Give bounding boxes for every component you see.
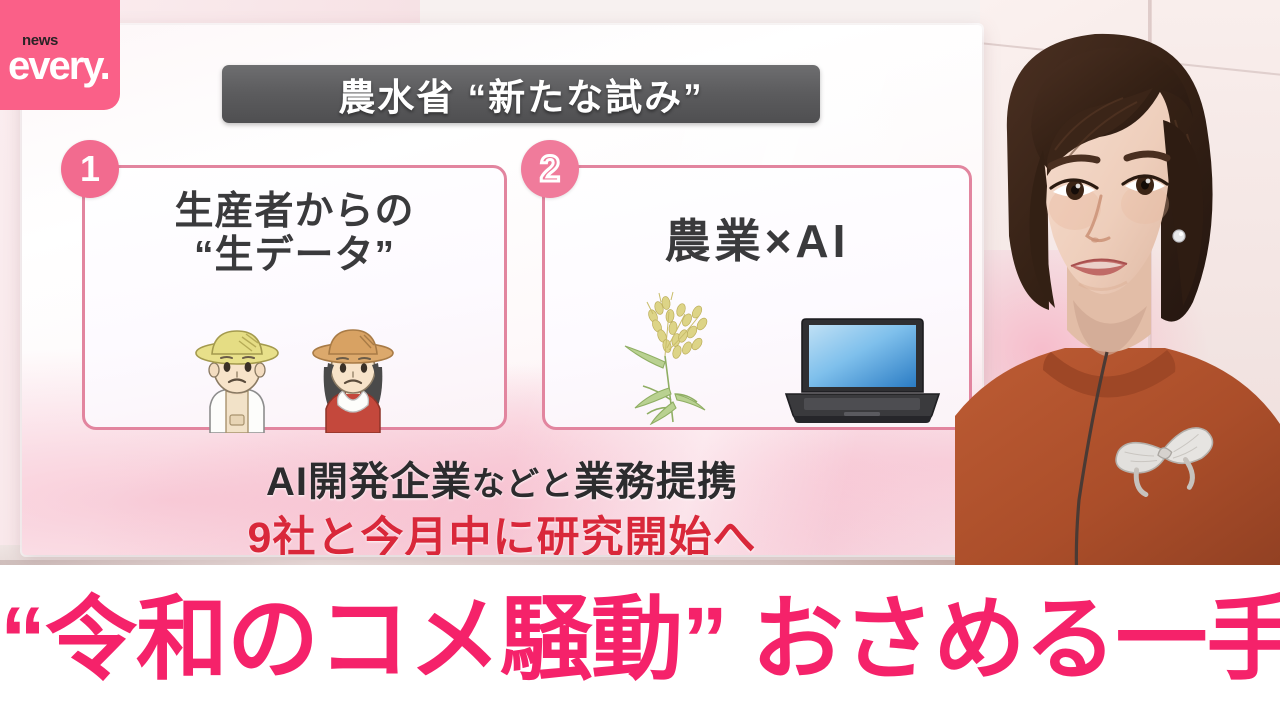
- two-farmers-icon: [180, 323, 420, 433]
- broadcast-screenshot: 農水省 “新たな試み” 1 生産者からの “生データ”: [0, 0, 1280, 720]
- caption-black-main: AI開発企業: [266, 460, 472, 504]
- channel-logo-every: every.: [8, 44, 109, 89]
- news-anchor: [955, 0, 1280, 585]
- board-title-text: 農水省 “新たな試み”: [338, 67, 703, 121]
- caption-black-tail: 業務提携: [574, 460, 738, 504]
- panel-two: 2 農業×AI: [542, 165, 972, 430]
- panel-two-badge: 2: [521, 140, 579, 198]
- panel-one-badge-number: 1: [80, 151, 100, 187]
- panel-one: 1 生産者からの “生データ”: [82, 165, 507, 430]
- caption-black-small: などと: [472, 465, 574, 502]
- board-caption-red: 9社と今月中に研究開始へ: [22, 503, 982, 555]
- panel-two-title: 農業×AI: [545, 216, 969, 268]
- rice-plant-icon: [613, 290, 738, 425]
- channel-logo: news every.: [0, 0, 120, 110]
- board-title-banner: 農水省 “新たな試み”: [222, 65, 820, 123]
- farmer-man-icon: [182, 323, 292, 433]
- panel-two-title-line1: 農業×AI: [545, 216, 969, 268]
- panel-one-title-line1: 生産者からの: [85, 190, 504, 234]
- caption-red-text: 9社と今月中に研究開始へ: [248, 514, 757, 555]
- laptop-icon: [780, 316, 945, 424]
- board-caption-black: AI開発企業などと業務提携: [22, 449, 982, 507]
- headline-text: “令和のコメ騒動” おさめる一手は: [0, 594, 1280, 686]
- panel-two-badge-number: 2: [540, 151, 560, 187]
- panel-one-title: 生産者からの “生データ”: [85, 190, 504, 277]
- panel-one-badge: 1: [61, 140, 119, 198]
- presentation-board: 農水省 “新たな試み” 1 生産者からの “生データ”: [22, 25, 982, 555]
- farmer-woman-icon: [298, 323, 408, 433]
- headline-band: “令和のコメ騒動” おさめる一手は: [0, 565, 1280, 720]
- panel-one-title-line2: “生データ”: [85, 234, 504, 278]
